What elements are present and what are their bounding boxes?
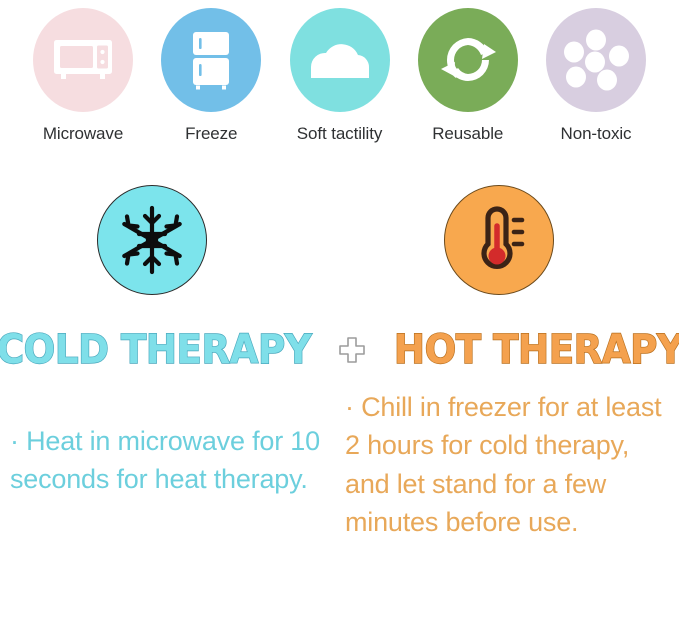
feature-label-freeze: Freeze bbox=[185, 124, 237, 144]
soft-tactility-badge-circle bbox=[290, 8, 390, 112]
cold-therapy-instruction: · Heat in microwave for 10 seconds for h… bbox=[10, 422, 340, 499]
feature-label-soft-tactility: Soft tactility bbox=[297, 124, 383, 144]
refrigerator-icon bbox=[189, 30, 233, 90]
feature-item-freeze: Freeze bbox=[152, 0, 270, 150]
instructions-section: · Heat in microwave for 10 seconds for h… bbox=[0, 388, 679, 638]
non-toxic-badge-circle bbox=[546, 8, 646, 112]
hot-therapy-instruction: · Chill in freezer for at least 2 hours … bbox=[345, 388, 679, 541]
reusable-badge-circle bbox=[418, 8, 518, 112]
feature-item-microwave: Microwave bbox=[24, 0, 142, 150]
cloud-icon bbox=[305, 37, 375, 83]
feature-label-non-toxic: Non-toxic bbox=[561, 124, 632, 144]
feature-badge-row: Microwave Freeze Soft tactility bbox=[0, 0, 679, 150]
hot-therapy-title: HOT THERAPY bbox=[394, 330, 679, 370]
recycle-arrows-icon bbox=[436, 28, 500, 92]
freeze-badge-circle bbox=[161, 8, 261, 112]
plus-icon: + bbox=[337, 335, 367, 365]
feature-item-soft-tactility: Soft tactility bbox=[281, 0, 399, 150]
cold-therapy-title: COLD THERAPY bbox=[0, 330, 311, 370]
feature-item-non-toxic: Non-toxic bbox=[537, 0, 655, 150]
thermometer-icon bbox=[468, 204, 530, 276]
feature-label-microwave: Microwave bbox=[43, 124, 123, 144]
snowflake-icon bbox=[115, 203, 189, 277]
cold-therapy-circle bbox=[97, 185, 207, 295]
hot-therapy-circle bbox=[444, 185, 554, 295]
therapy-icon-row bbox=[0, 178, 679, 308]
feature-item-reusable: Reusable bbox=[409, 0, 527, 150]
six-dots-icon bbox=[559, 27, 633, 93]
therapy-headline: COLD THERAPY + HOT THERAPY bbox=[0, 322, 679, 378]
microwave-badge-circle bbox=[33, 8, 133, 112]
feature-label-reusable: Reusable bbox=[432, 124, 503, 144]
microwave-icon bbox=[52, 36, 114, 84]
